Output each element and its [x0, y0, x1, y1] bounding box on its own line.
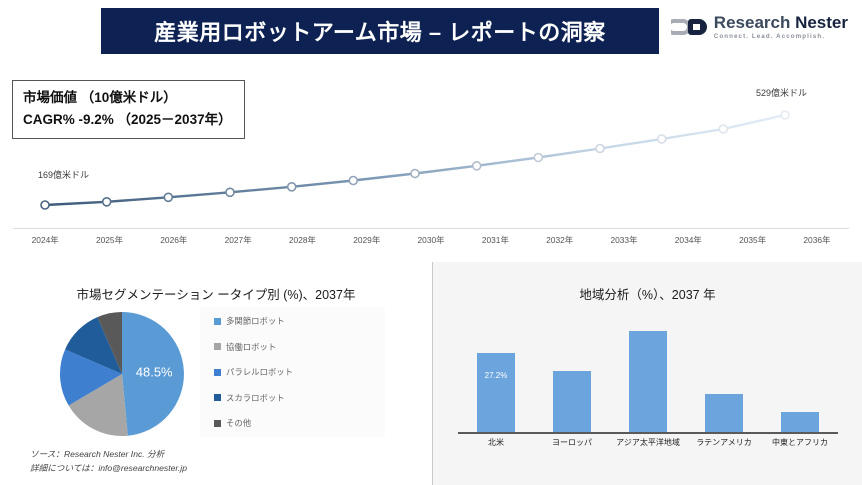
- logo-text-block: Research Nester Connect. Lead. Accomplis…: [714, 14, 848, 40]
- x-tick-label: 2030年: [399, 234, 463, 254]
- bar[interactable]: [553, 371, 591, 432]
- x-tick-label: 2031年: [463, 234, 527, 254]
- bar-chart-x-tick-labels: 北米ヨーロッパアジア太平洋地域ラテンアメリカ中東とアフリカ: [458, 437, 838, 448]
- x-tick-label: 2024年: [13, 234, 77, 254]
- legend-item-label: スカラロボット: [226, 392, 285, 404]
- legend-swatch-icon: [214, 420, 221, 427]
- pie-chart-svg: 48.5%: [58, 310, 186, 438]
- bar-category-label: 北米: [463, 437, 529, 448]
- source-note: ソース：Research Nester Inc. 分析 詳細については：info…: [30, 448, 187, 476]
- bar[interactable]: [629, 331, 667, 432]
- research-nester-logo-icon: [671, 16, 707, 38]
- logo-word-nester: Nester: [795, 13, 848, 32]
- line-data-point: [534, 154, 542, 162]
- bar-column: 27.2%: [463, 322, 529, 432]
- bar-category-label: アジア太平洋地域: [615, 437, 681, 448]
- legend-swatch-icon: [214, 343, 221, 350]
- logo-word-research: Research: [714, 13, 795, 32]
- regional-analysis-title: 地域分析（%）、2037 年: [433, 284, 862, 303]
- line-data-point: [226, 188, 234, 196]
- x-tick-label: 2032年: [528, 234, 592, 254]
- logo-wordmark: Research Nester: [714, 14, 848, 31]
- line-data-point: [658, 135, 666, 143]
- line-end-label: 529億米ドル: [756, 86, 807, 99]
- bar-category-label: ヨーロッパ: [539, 437, 605, 448]
- line-data-point: [164, 193, 172, 201]
- line-data-point: [596, 145, 604, 153]
- header-bar: 産業用ロボットアーム市場 – レポートの洞察: [101, 8, 659, 54]
- line-start-label: 169億米ドル: [38, 168, 89, 181]
- regional-analysis-panel: 地域分析（%）、2037 年 27.2% 北米ヨーロッパアジア太平洋地域ラテンア…: [432, 262, 862, 485]
- brand-logo: Research Nester Connect. Lead. Accomplis…: [671, 14, 848, 40]
- logo-tagline: Connect. Lead. Accomplish.: [714, 34, 848, 40]
- segmentation-title: 市場セグメンテーション ータイプ別 (%)、2037年: [0, 284, 432, 303]
- legend-item[interactable]: 協働ロボット: [200, 341, 385, 353]
- legend-item-label: その他: [226, 417, 251, 429]
- line-data-point: [719, 125, 727, 133]
- line-data-point: [781, 111, 789, 119]
- pie-legend: 多関節ロボット協働ロボットパラレルロボットスカラロボットその他: [200, 307, 385, 437]
- report-infographic: 産業用ロボットアーム市場 – レポートの洞察 Research Nester C…: [0, 0, 862, 485]
- line-data-point: [349, 177, 357, 185]
- bar-column: [691, 322, 757, 432]
- x-tick-label: 2035年: [720, 234, 784, 254]
- pie-slice-value-label: 48.5%: [136, 365, 173, 380]
- line-data-point: [411, 170, 419, 178]
- x-tick-label: 2028年: [270, 234, 334, 254]
- legend-item[interactable]: パラレルロボット: [200, 366, 385, 378]
- regional-bar-chart: 27.2%: [458, 322, 838, 432]
- page-title: 産業用ロボットアーム市場 – レポートの洞察: [154, 15, 605, 47]
- bar-column: [767, 322, 833, 432]
- source-line-1: ソース：Research Nester Inc. 分析: [30, 448, 187, 462]
- bar-category-label: 中東とアフリカ: [767, 437, 833, 448]
- legend-swatch-icon: [214, 318, 221, 325]
- line-chart-svg: [0, 60, 862, 255]
- bar-column: [615, 322, 681, 432]
- legend-item[interactable]: スカラロボット: [200, 392, 385, 404]
- legend-swatch-icon: [214, 369, 221, 376]
- bar[interactable]: [705, 394, 743, 432]
- source-line-2: 詳細については：info@researchnester.jp: [30, 462, 187, 476]
- legend-item-label: 協働ロボット: [226, 341, 276, 353]
- legend-item-label: 多関節ロボット: [226, 315, 285, 327]
- x-tick-label: 2036年: [785, 234, 849, 254]
- bar-value-label: 27.2%: [477, 371, 515, 380]
- x-tick-label: 2034年: [656, 234, 720, 254]
- bar[interactable]: 27.2%: [477, 353, 515, 432]
- x-tick-label: 2025年: [77, 234, 141, 254]
- legend-swatch-icon: [214, 394, 221, 401]
- x-tick-label: 2033年: [592, 234, 656, 254]
- legend-item-label: パラレルロボット: [226, 366, 293, 378]
- line-chart-x-tick-labels: 2024年2025年2026年2027年2028年2029年2030年2031年…: [13, 234, 849, 254]
- segmentation-panel: 市場セグメンテーション ータイプ別 (%)、2037年 48.5% 多関節ロボッ…: [0, 262, 432, 485]
- legend-item[interactable]: 多関節ロボット: [200, 315, 385, 327]
- bar-category-label: ラテンアメリカ: [691, 437, 757, 448]
- bar[interactable]: [781, 412, 819, 432]
- bar-chart-x-axis: [458, 432, 838, 434]
- x-tick-label: 2027年: [206, 234, 270, 254]
- line-data-point: [473, 162, 481, 170]
- line-data-point: [41, 201, 49, 209]
- segmentation-pie-chart: 48.5%: [58, 310, 186, 438]
- x-tick-label: 2026年: [142, 234, 206, 254]
- line-chart-x-axis: [13, 228, 849, 229]
- line-data-point: [288, 183, 296, 191]
- line-data-point: [103, 198, 111, 206]
- legend-item[interactable]: その他: [200, 417, 385, 429]
- market-value-line-chart: [0, 60, 862, 255]
- x-tick-label: 2029年: [335, 234, 399, 254]
- bar-column: [539, 322, 605, 432]
